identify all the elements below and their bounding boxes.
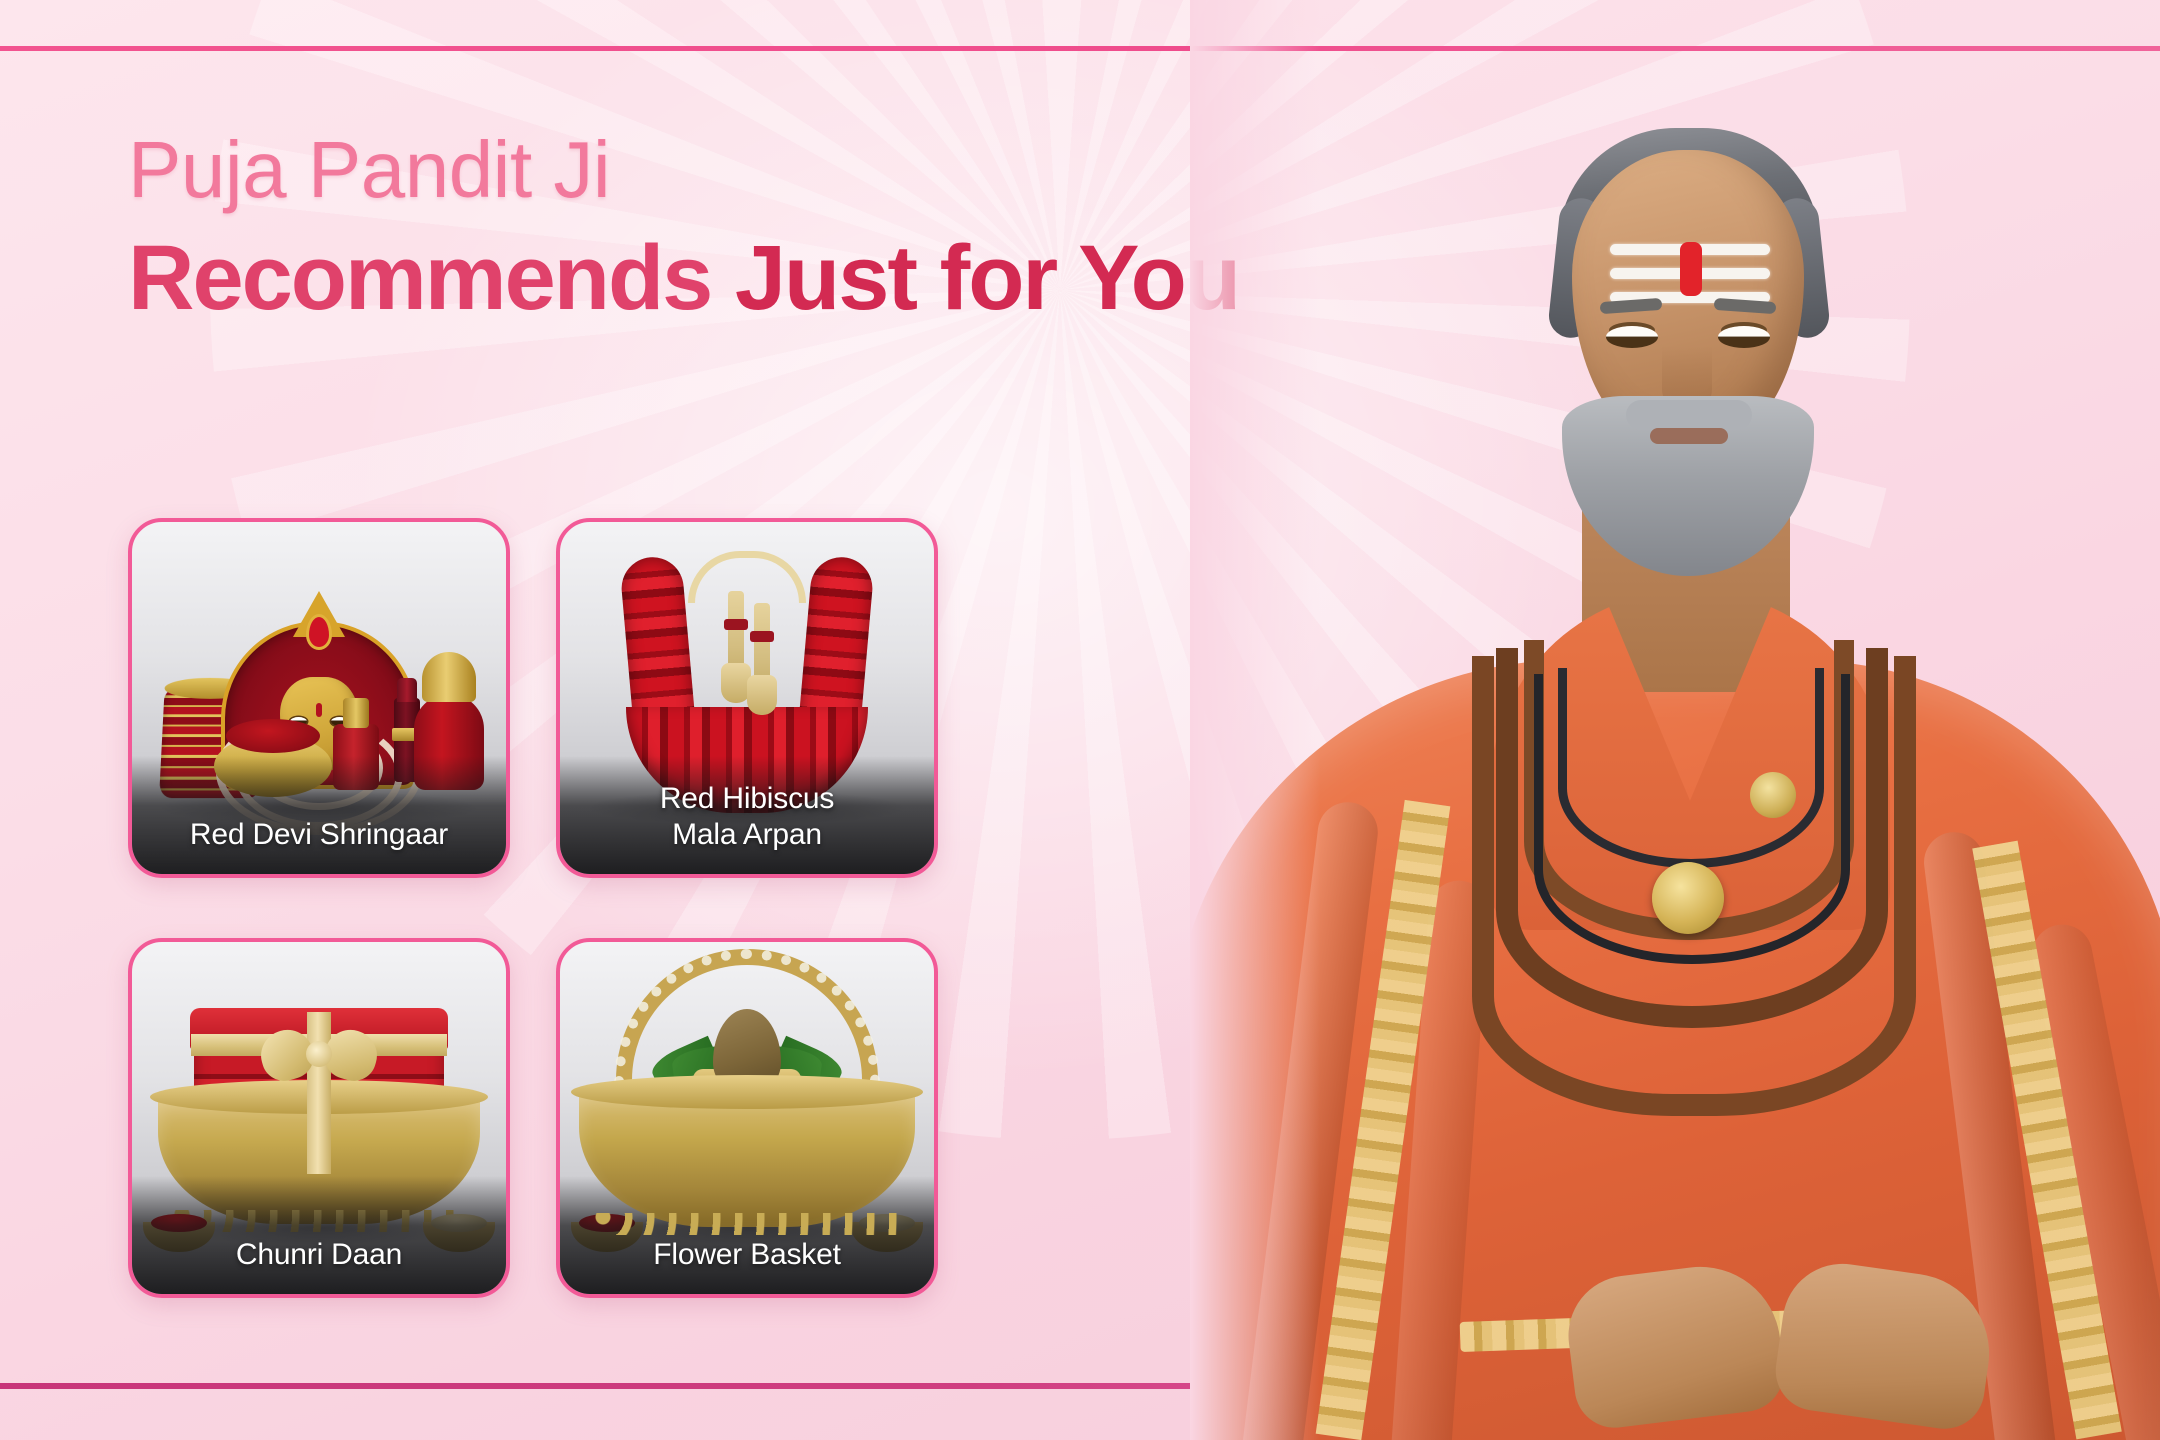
- gold-bow-knot: [306, 1041, 332, 1067]
- product-card-flower-basket[interactable]: Flower Basket: [556, 938, 938, 1298]
- product-card-label: Red Hibiscus Mala Arpan: [560, 756, 934, 874]
- folded-hands: [1570, 1230, 1990, 1440]
- basket-bead-trim: [592, 1213, 902, 1235]
- hand-right: [1771, 1256, 2000, 1434]
- red-tilak-mark: [1680, 242, 1702, 296]
- garland-tassel-right: [754, 603, 770, 697]
- gold-lotus-pendant: [1652, 862, 1724, 934]
- lips: [1650, 428, 1728, 444]
- recommended-products-grid: Red Devi Shringaar Red Hibiscus Mala Arp…: [128, 518, 938, 1298]
- eye-left: [1606, 326, 1658, 348]
- pandit-portrait: [1190, 0, 2160, 1440]
- black-bead-mala-inner: [1558, 668, 1824, 868]
- headline-word-recommends: Recommends: [128, 227, 735, 329]
- bottom-divider-line: [0, 1383, 1210, 1389]
- promo-banner: Puja Pandit Ji Recommends Just for You: [0, 0, 2160, 1440]
- portrait-left-fade: [1190, 0, 1320, 1440]
- garland-tassel-left: [728, 591, 744, 685]
- garland-cord: [688, 551, 806, 603]
- eye-right: [1718, 326, 1770, 348]
- headline-word-just-for-you: Just for You: [735, 227, 1239, 329]
- hand-left: [1562, 1258, 1789, 1432]
- product-card-red-hibiscus-mala-arpan[interactable]: Red Hibiscus Mala Arpan: [556, 518, 938, 878]
- product-card-red-devi-shringaar[interactable]: Red Devi Shringaar: [128, 518, 510, 878]
- mustache: [1626, 400, 1752, 430]
- product-card-label: Red Devi Shringaar: [132, 756, 506, 874]
- product-card-chunri-daan[interactable]: Chunri Daan: [128, 938, 510, 1298]
- gold-coin-charm: [1750, 772, 1796, 818]
- product-card-label: Chunri Daan: [132, 1176, 506, 1294]
